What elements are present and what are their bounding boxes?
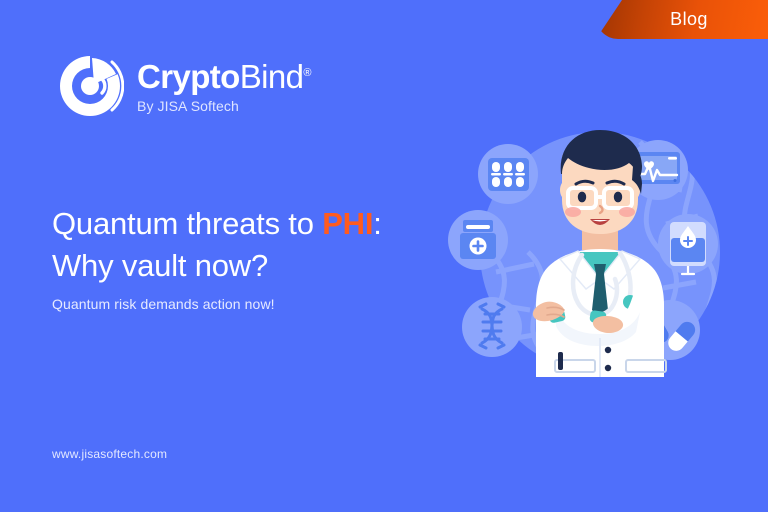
logo-wordmark: CryptoBind® xyxy=(137,60,311,93)
coat-button xyxy=(605,365,611,371)
medicine-bottle-icon xyxy=(448,210,508,270)
headline-highlight-phi: PHI xyxy=(322,206,373,241)
headline-line1-suffix: : xyxy=(373,206,381,241)
headline-line2: Why vault now? xyxy=(52,248,268,283)
coat-button xyxy=(605,347,611,353)
website-url[interactable]: www.jisasoftech.com xyxy=(52,447,167,461)
logo-tagline: By JISA Softech xyxy=(137,98,311,114)
doctor-illustration xyxy=(430,112,760,392)
iv-blood-bag-icon xyxy=(658,214,718,274)
logo-text: CryptoBind® By JISA Softech xyxy=(137,58,311,114)
blog-ribbon: Blog xyxy=(596,0,768,39)
headline-block: Quantum threats to PHI: Why vault now? Q… xyxy=(52,203,472,312)
blog-ribbon-label: Blog xyxy=(656,9,708,30)
logo-word-crypto: Crypto xyxy=(137,58,240,95)
blog-banner: Blog CryptoBind® By JISA Softech xyxy=(0,0,768,512)
pen-icon xyxy=(558,352,563,370)
dna-helix-icon xyxy=(462,297,522,357)
pill-blister-pack-icon xyxy=(478,144,538,204)
brand-logo[interactable]: CryptoBind® By JISA Softech xyxy=(56,52,311,120)
headline-line1-prefix: Quantum threats to xyxy=(52,206,322,241)
logo-word-bind: Bind xyxy=(240,58,304,95)
subheadline: Quantum risk demands action now! xyxy=(52,296,472,312)
page-title: Quantum threats to PHI: Why vault now? xyxy=(52,203,472,286)
cryptobind-circular-mark-icon xyxy=(56,52,124,120)
registered-trademark-icon: ® xyxy=(303,67,311,79)
